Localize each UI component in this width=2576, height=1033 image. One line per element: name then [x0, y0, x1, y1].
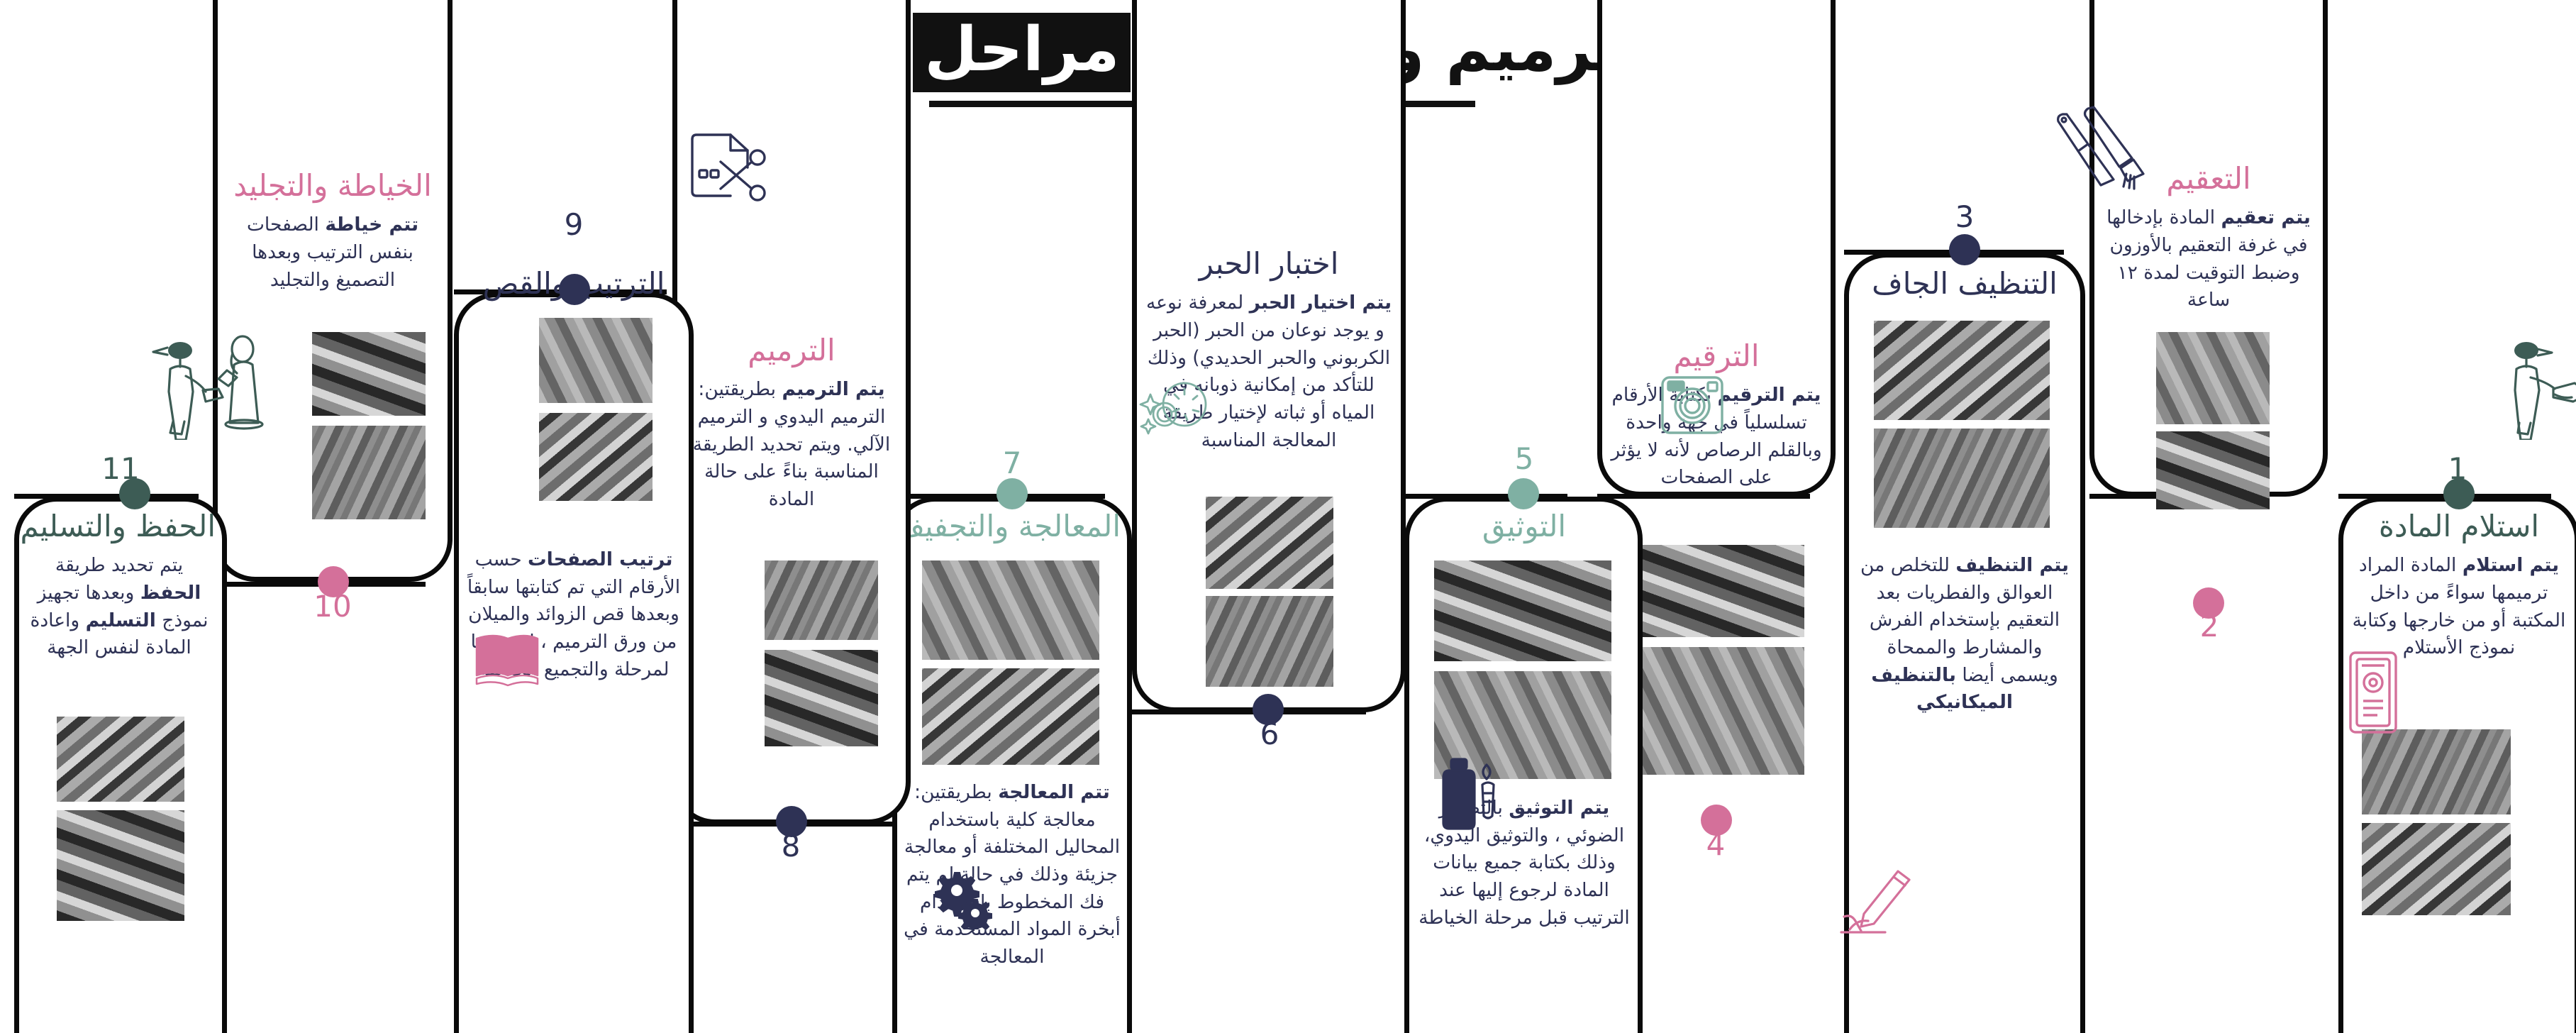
step-number-9: 9: [455, 210, 692, 240]
step-photo-11b: [57, 810, 184, 921]
step-11: 11: [14, 348, 227, 484]
scalpel-brush-icon: [2041, 104, 2148, 197]
two-people-receiving-icon: [2495, 333, 2576, 440]
step-photo-1a: [2362, 729, 2511, 814]
step-photo-6a: [1206, 497, 1333, 589]
step-10-content: الخياطة والتجليد تتم خياطة الصفحات بنفس …: [214, 169, 451, 294]
step-photo-4a: [1628, 545, 1804, 637]
step-node-3: [1949, 234, 1980, 265]
step-photo-11a: [57, 717, 184, 802]
step-heading-5: التوثيق: [1417, 509, 1631, 543]
step-6: 6: [1135, 719, 1404, 827]
step-photo-4b: [1628, 647, 1804, 775]
step-body-11: يتم تحديد طريقة الحفظ وبعدها تجهيز نموذج…: [23, 552, 216, 662]
sparkle-clean-icon: [1135, 380, 1213, 444]
title-boxed-word: مراحل: [913, 13, 1131, 92]
step-8: 8: [674, 832, 908, 922]
step-body-8: يتم الترميم بطريقتين: الترميم اليدوي و ا…: [685, 376, 898, 513]
step-number-5: 5: [1407, 444, 1641, 474]
two-people-delivering-icon: [143, 333, 271, 440]
step-node-8: [776, 806, 807, 837]
step-1: 1: [2341, 348, 2575, 484]
step-node-7: [996, 478, 1028, 509]
step-photo-1b: [2362, 823, 2511, 915]
step-3-body-wrap: يتم التنظيف للتخلص من العوالق والفطريات …: [1847, 552, 2082, 717]
step-5-content: التوثيق: [1407, 509, 1641, 543]
step-body-2: يتم تعقيم المادة بإدخالها في غرفة التعقي…: [2101, 204, 2316, 314]
step-node-6: [1253, 694, 1284, 725]
gears-icon: [929, 868, 994, 929]
step-photo-8a: [765, 560, 878, 640]
step-photo-10a: [312, 332, 426, 416]
step-9: 9: [455, 133, 692, 240]
ink-bottle-dropper-icon: [1438, 756, 1509, 834]
step-7-content: المعالجة والتجفيف: [894, 509, 1131, 543]
step-heading-11: الحفظ والتسليم: [23, 509, 216, 543]
sterilizer-cabinet-icon: [2338, 650, 2409, 735]
step-3-content: التنظيف الجاف: [1847, 267, 2082, 301]
step-11-content: الحفظ والتسليم يتم تحديد طريقة الحفظ وبع…: [14, 509, 224, 662]
step-heading-1: استلام المادة: [2350, 509, 2567, 543]
book-icon: [470, 631, 543, 691]
step-number-7: 7: [894, 448, 1131, 478]
step-heading-4: الترقيم: [1609, 339, 1824, 373]
step-2: 2: [2092, 612, 2326, 727]
paper-scissors-icon: [687, 131, 770, 207]
step-photo-7b: [922, 668, 1099, 765]
hand-writing-pencil-icon: [1837, 867, 1915, 938]
infographic-canvas: الترميم والمعالجةمراحل: [0, 0, 2576, 1033]
step-photo-7a: [922, 560, 1099, 660]
step-1-content: استلام المادة يتم استلام المادة المراد ت…: [2341, 509, 2576, 662]
step-7: 7: [894, 385, 1131, 478]
step-node-2: [2193, 587, 2224, 619]
step-number-11: 11: [14, 454, 227, 484]
step-10: 10: [214, 592, 451, 681]
step-photo-3b: [1874, 429, 2050, 528]
step-heading-6: اختبار الحبر: [1145, 247, 1393, 281]
step-photo-8b: [765, 650, 878, 746]
step-photo-5a: [1434, 560, 1611, 661]
step-body-10: تتم خياطة الصفحات بنفس الترتيب وبعدها ال…: [226, 211, 440, 294]
step-photo-3a: [1874, 321, 2050, 420]
step-number-3: 3: [1847, 202, 2082, 232]
step-node-9: [559, 274, 590, 305]
step-5: 5: [1407, 376, 1641, 474]
step-heading-7: المعالجة والتجفيف: [904, 509, 1121, 543]
step-node-4: [1701, 805, 1732, 836]
step-heading-8: الترميم: [685, 333, 898, 368]
step-heading-3: التنظيف الجاف: [1858, 267, 2071, 301]
step-8-content: الترميم يتم الترميم بطريقتين: الترميم ال…: [674, 333, 909, 514]
step-node-11: [119, 478, 150, 509]
step-body-1: يتم استلام المادة المراد ترميمها سواءً م…: [2350, 552, 2567, 662]
step-node-10: [318, 566, 349, 597]
step-body-3: يتم التنظيف للتخلص من العوالق والفطريات …: [1858, 552, 2071, 717]
step-photo-2: [2156, 332, 2270, 424]
step-node-1: [2443, 478, 2475, 509]
step-photo-10b: [312, 426, 426, 519]
step-node-5: [1508, 478, 1539, 509]
step-photo-6b: [1206, 596, 1333, 687]
step-photo-2b: [2156, 431, 2270, 509]
step-photo-9a: [539, 318, 653, 403]
step-heading-10: الخياطة والتجليد: [226, 169, 440, 203]
step-photo-9b: [539, 413, 653, 501]
camera-icon: [1658, 370, 1726, 438]
step-3: 3: [1847, 110, 2082, 232]
